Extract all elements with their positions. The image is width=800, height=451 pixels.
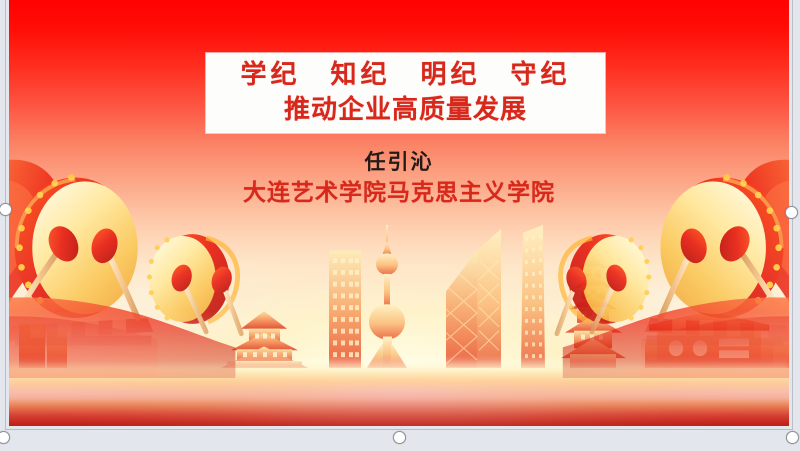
presenter-organization: 大连艺术学院马克思主义学院 (9, 178, 789, 208)
resize-handle-bottom-right[interactable] (786, 431, 799, 444)
resize-handle-bottom-center[interactable] (393, 431, 406, 444)
slide-title-line-1: 学纪 知纪 明纪 守纪 (206, 62, 605, 88)
slide-editor-canvas: 学纪 知纪 明纪 守纪 推动企业高质量发展 任引沁 大连艺术学院马克思主义学院 (0, 0, 800, 451)
slide-title-card[interactable]: 学纪 知纪 明纪 守纪 推动企业高质量发展 (206, 53, 605, 133)
slide-surface[interactable]: 学纪 知纪 明纪 守纪 推动企业高质量发展 任引沁 大连艺术学院马克思主义学院 (9, 0, 789, 426)
presenter-block[interactable]: 任引沁 大连艺术学院马克思主义学院 (9, 150, 789, 208)
slide-title-line-2: 推动企业高质量发展 (206, 97, 605, 123)
resize-handle-middle-right[interactable] (785, 206, 798, 219)
presenter-name: 任引沁 (9, 150, 789, 175)
